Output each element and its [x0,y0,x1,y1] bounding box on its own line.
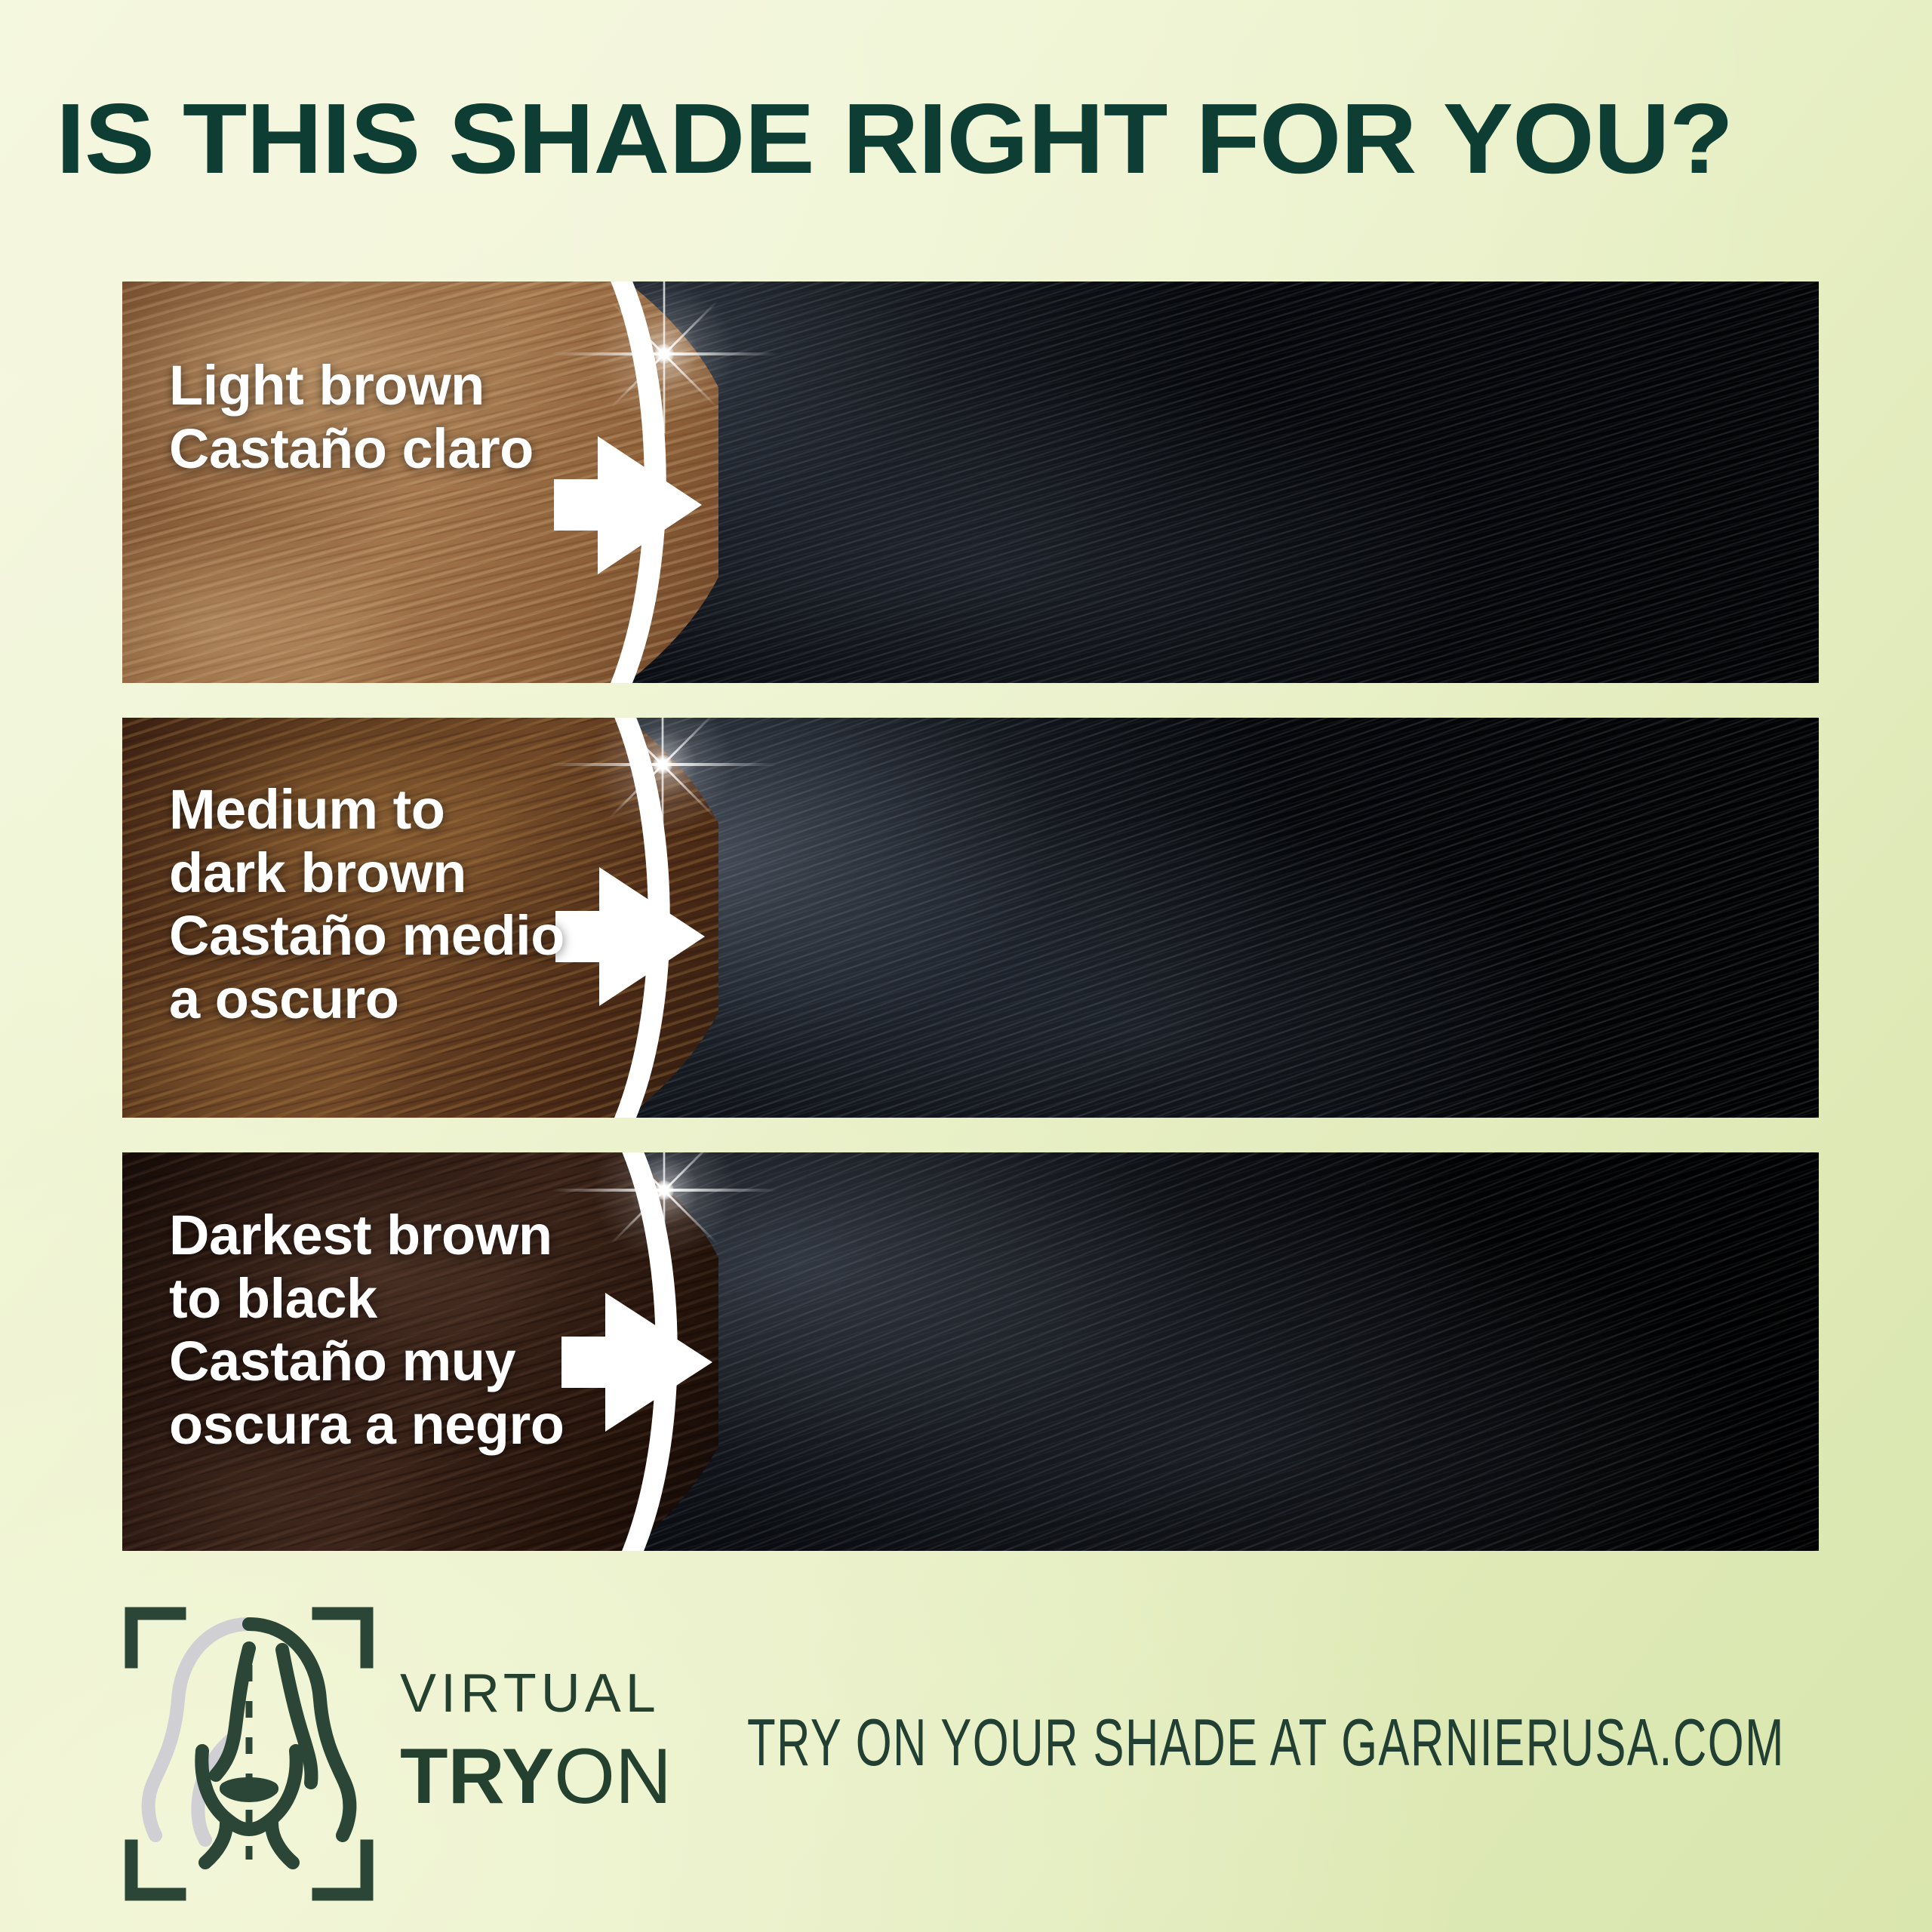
shade-card-darkest-brown-to-black[interactable]: Darkest brown to black Castaño muy oscur… [122,1152,1819,1551]
wordmark-line-tryon: TRYON [400,1737,672,1816]
shade-card-light-brown[interactable]: Light brown Castaño claro [122,281,1819,683]
page-title: IS THIS SHADE RIGHT FOR YOU? [56,89,1733,189]
face-scan-icon [121,1603,377,1905]
wordmark-try: TRY [400,1733,554,1820]
wordmark-on: ON [554,1733,672,1820]
wordmark-line-virtual: VIRTUAL [400,1666,672,1721]
shade-card-list: Light brown Castaño claro Medium to dark… [122,281,1819,1551]
before-hair-swatch [122,281,718,683]
shade-card-medium-dark-brown[interactable]: Medium to dark brown Castaño medio a osc… [122,718,1819,1118]
tagline-url[interactable]: TRY ON YOUR SHADE AT GARNIERUSA.COM [747,1704,1785,1781]
shade-card-label: Light brown Castaño claro [169,354,534,480]
shade-card-label: Darkest brown to black Castaño muy oscur… [169,1204,565,1456]
virtual-try-on-wordmark: VIRTUAL TRYON [400,1666,672,1816]
shade-card-label: Medium to dark brown Castaño medio a osc… [169,778,565,1030]
